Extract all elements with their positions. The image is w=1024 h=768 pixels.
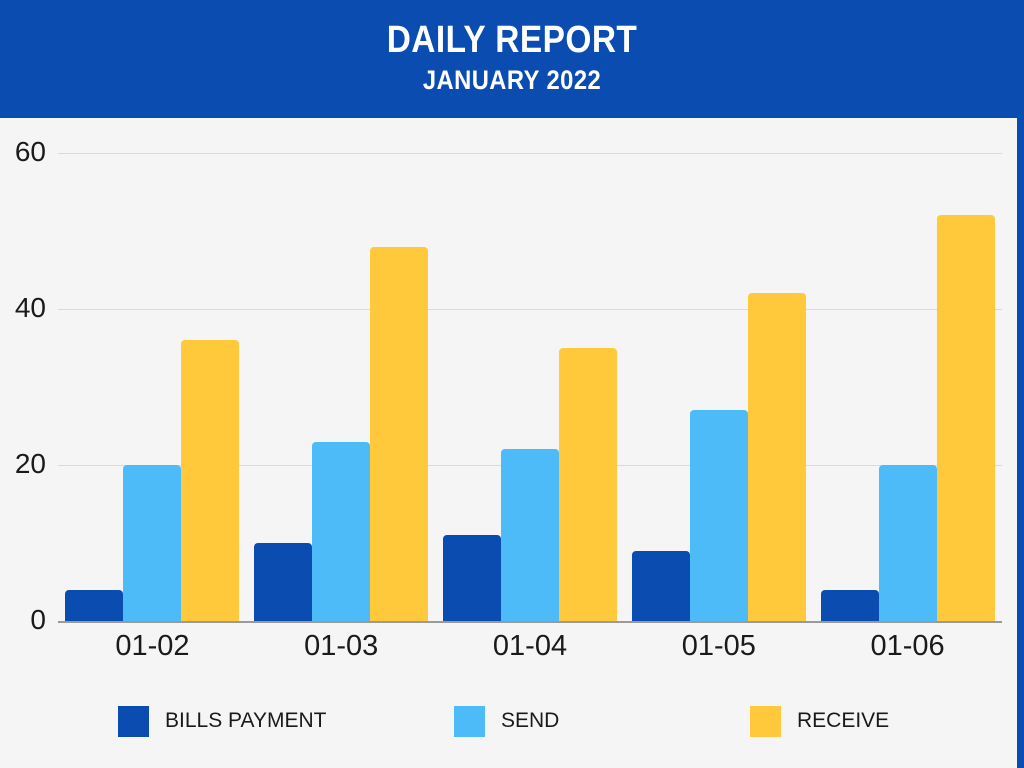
x-axis-line (58, 621, 1002, 623)
x-axis-tick-label: 01-05 (624, 631, 813, 661)
bar-01-03-receive (370, 247, 428, 621)
chart-header-banner: DAILY REPORT JANUARY 2022 (0, 0, 1024, 118)
legend-label: BILLS PAYMENT (165, 709, 326, 733)
x-axis-tick-label: 01-03 (247, 631, 436, 661)
page-subtitle: JANUARY 2022 (61, 62, 962, 96)
bar-01-04-bills-payment (443, 535, 501, 621)
bar-01-02-send (123, 465, 181, 621)
x-axis-tick-label: 01-06 (813, 631, 1002, 661)
legend-label: SEND (501, 709, 559, 733)
gridline (58, 153, 1002, 154)
legend-swatch-icon (750, 706, 781, 737)
page-title: DAILY REPORT (61, 0, 962, 62)
bar-01-04-receive (559, 348, 617, 621)
bar-01-05-receive (748, 293, 806, 621)
gridline (58, 309, 1002, 310)
y-axis-tick-label: 60 (0, 138, 46, 166)
bar-01-06-bills-payment (821, 590, 879, 621)
y-axis-tick-label: 40 (0, 294, 46, 322)
right-accent-strip (1017, 118, 1024, 768)
legend-swatch-icon (454, 706, 485, 737)
bar-01-02-receive (181, 340, 239, 621)
bar-01-03-send (312, 442, 370, 621)
chart-plot-area: 0204060 01-0201-0301-0401-0501-06 BILLS … (0, 118, 1017, 768)
y-axis-tick-label: 0 (0, 606, 46, 634)
legend-item-receive[interactable]: RECEIVE (750, 703, 889, 739)
x-axis-tick-label: 01-02 (58, 631, 247, 661)
chart-legend: BILLS PAYMENTSENDRECEIVE (0, 703, 1017, 763)
bar-01-04-send (501, 449, 559, 621)
legend-item-send[interactable]: SEND (454, 703, 559, 739)
daily-report-chart-page: DAILY REPORT JANUARY 2022 0204060 01-020… (0, 0, 1024, 768)
legend-swatch-icon (118, 706, 149, 737)
bar-01-03-bills-payment (254, 543, 312, 621)
bar-01-02-bills-payment (65, 590, 123, 621)
y-axis-tick-label: 20 (0, 450, 46, 478)
legend-item-bills-payment[interactable]: BILLS PAYMENT (118, 703, 326, 739)
bar-01-05-send (690, 410, 748, 621)
bar-01-06-send (879, 465, 937, 621)
x-axis-tick-label: 01-04 (436, 631, 625, 661)
legend-label: RECEIVE (797, 709, 889, 733)
bar-01-06-receive (937, 215, 995, 621)
bar-01-05-bills-payment (632, 551, 690, 621)
